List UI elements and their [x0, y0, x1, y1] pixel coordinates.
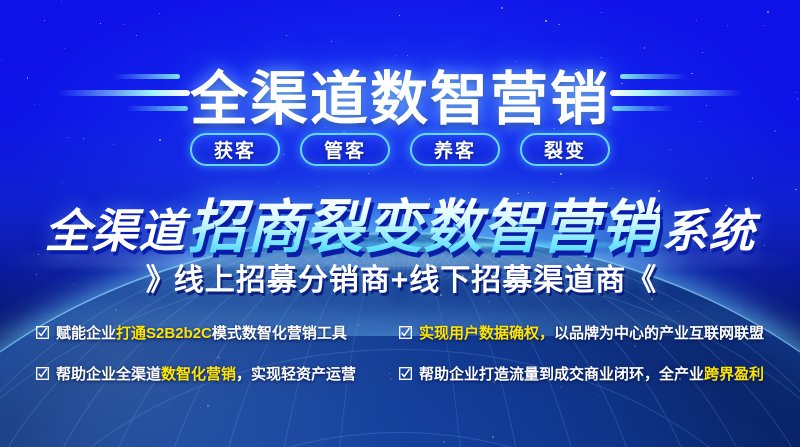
bullet-plain: 赋能企业	[56, 325, 116, 342]
chevron-right-icon: 《	[626, 264, 654, 297]
bullet-highlight: 实现用户数据确权，	[419, 325, 554, 342]
bullet-plain: ，实现轻资产运营	[236, 366, 356, 383]
badge-2[interactable]: 管客	[300, 133, 390, 166]
page-title: 全渠道数智营销	[190, 52, 610, 136]
bullet-plain: 模式数智化营销工具	[212, 325, 347, 342]
badge-list: 获客管客养客裂变	[0, 133, 800, 166]
speed-lines-right-icon	[610, 64, 760, 124]
bullet-highlight: 数智化营销	[161, 366, 236, 383]
bullet-plain: 帮助企业打造流量到成交商业闭环，全产业	[419, 366, 704, 383]
feature-bullet: 赋能企业打通S2B2b2C模式数智化营销工具	[36, 322, 389, 343]
feature-bullet: 实现用户数据确权，以品牌为中心的产业互联网联盟	[399, 322, 764, 343]
checkbox-checked-icon	[399, 326, 412, 339]
chevron-left-icon: 》	[146, 264, 174, 297]
feature-bullet: 帮助企业全渠道数智化营销，实现轻资产运营	[36, 363, 389, 384]
badge-1[interactable]: 获客	[190, 133, 280, 166]
bullet-text: 帮助企业打造流量到成交商业闭环，全产业跨界盈利	[419, 363, 764, 384]
subtitle: 》线上招募分销商+线下招募渠道商《	[0, 255, 800, 299]
bullet-text: 实现用户数据确权，以品牌为中心的产业互联网联盟	[419, 322, 764, 343]
speed-lines-left-icon	[40, 64, 190, 124]
badge-4[interactable]: 裂变	[520, 133, 610, 166]
checkbox-checked-icon	[399, 367, 412, 380]
checkbox-checked-icon	[36, 326, 49, 339]
bullet-text: 帮助企业全渠道数智化营销，实现轻资产运营	[56, 363, 356, 384]
checkbox-checked-icon	[36, 367, 49, 380]
title-row: 全渠道数智营销	[0, 52, 800, 136]
badge-3[interactable]: 养客	[410, 133, 500, 166]
secondary-headline: 全渠道 招商裂变数智营销 系统	[0, 180, 800, 264]
headline-suffix: 系统	[662, 195, 756, 261]
bullet-highlight: 跨界盈利	[704, 366, 764, 383]
feature-bullet: 帮助企业打造流量到成交商业闭环，全产业跨界盈利	[399, 363, 764, 384]
headline-prefix: 全渠道	[44, 195, 185, 261]
bullet-text: 赋能企业打通S2B2b2C模式数智化营销工具	[56, 322, 347, 343]
bullet-plain: 以品牌为中心的产业互联网联盟	[554, 325, 764, 342]
marketing-banner: 全渠道数智营销 获客管客养客裂变 全渠道 招商裂变数智营销 系统 》线上招募分销…	[0, 0, 800, 447]
subtitle-text: 线上招募分销商+线下招募渠道商	[174, 264, 627, 297]
bullet-plain: 帮助企业全渠道	[56, 366, 161, 383]
feature-bullet-list: 赋能企业打通S2B2b2C模式数智化营销工具实现用户数据确权，以品牌为中心的产业…	[0, 322, 800, 384]
headline-emphasis: 招商裂变数智营销	[187, 180, 659, 264]
bullet-highlight: 打通S2B2b2C	[116, 325, 212, 342]
